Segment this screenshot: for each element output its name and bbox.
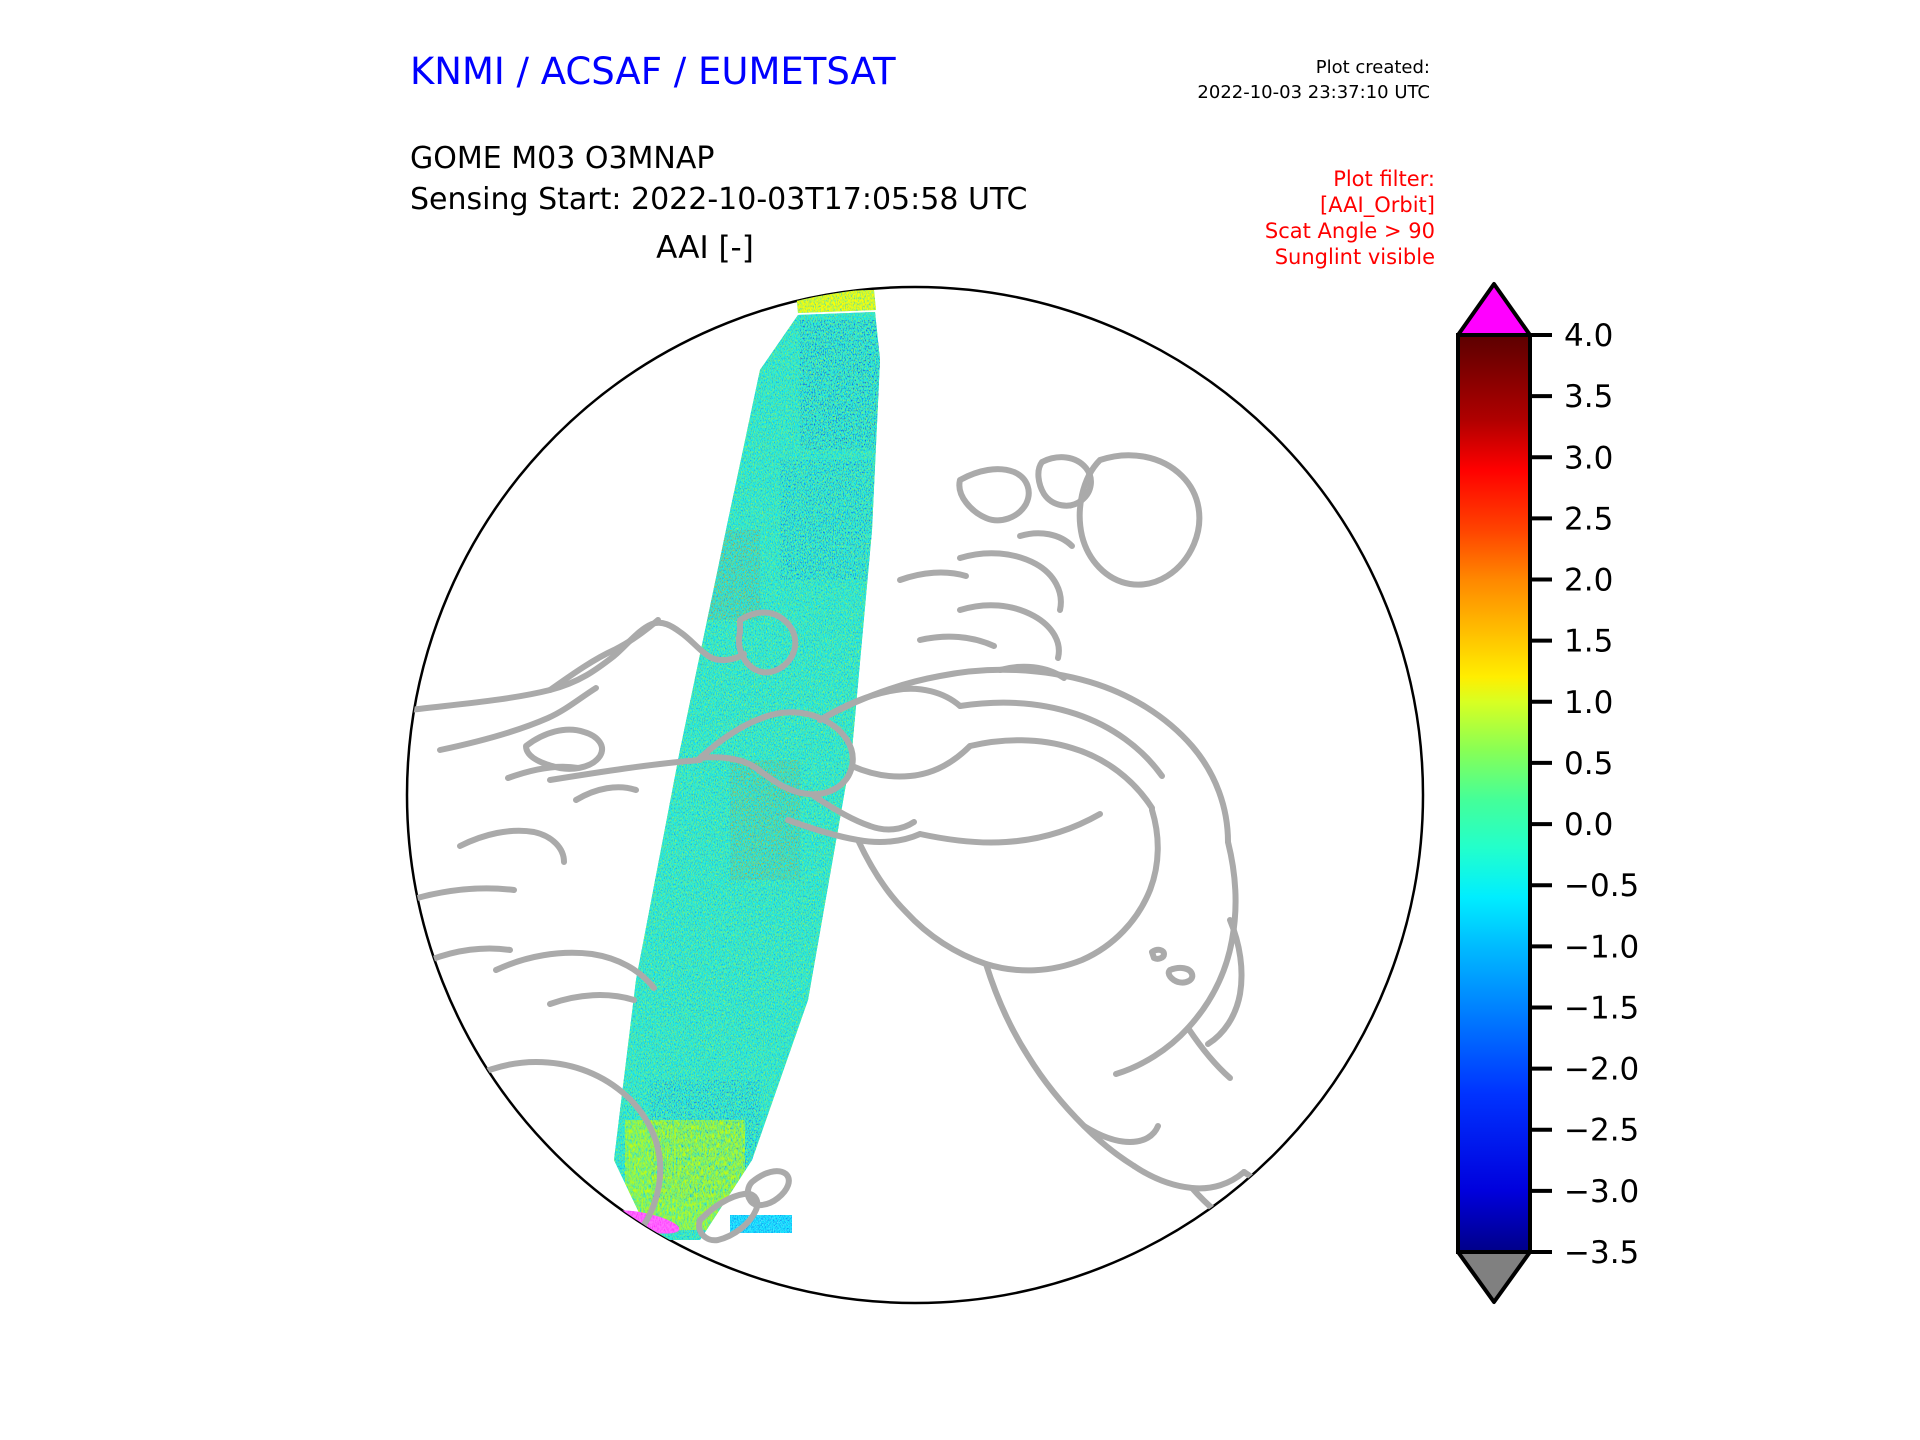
colorbar-tick-label: −3.5 [1564,1235,1639,1271]
colorbar-tick-label: 2.0 [1564,563,1613,599]
plot-filter-line-2: Scat Angle > 90 [1180,218,1435,244]
colorbar-tick-label: 2.5 [1564,501,1613,537]
colorbar-ticks: 4.03.53.02.52.01.51.00.50.0−0.5−1.0−1.5−… [1530,318,1639,1271]
colorbar: 4.03.53.02.52.01.51.00.50.0−0.5−1.0−1.5−… [1440,275,1700,1315]
colorbar-tick-label: −2.0 [1564,1052,1639,1088]
dataset-info-block: GOME M03 O3MNAP Sensing Start: 2022-10-0… [410,138,1027,220]
globe-outline [407,287,1423,1303]
colorbar-tick-label: 3.5 [1564,379,1613,415]
colorbar-tick-label: −3.0 [1564,1174,1639,1210]
colorbar-under-arrow [1458,1252,1530,1302]
colorbar-tick-label: −2.5 [1564,1113,1639,1149]
colorbar-tick-label: 1.0 [1564,685,1613,721]
colorbar-tick-label: −1.5 [1564,990,1639,1026]
plot-filter-title: Plot filter: [1180,166,1435,192]
colorbar-gradient [1458,335,1530,1252]
instrument-line: GOME M03 O3MNAP [410,138,1027,179]
map-plot-area [400,280,1430,1310]
quantity-title: AAI [-] [410,230,1000,266]
colorbar-tick-label: 4.0 [1564,318,1613,354]
plot-filter-line-1: [AAI_Orbit] [1180,192,1435,218]
colorbar-tick-label: 3.0 [1564,440,1613,476]
colorbar-svg: 4.03.53.02.52.01.51.00.50.0−0.5−1.0−1.5−… [1440,275,1700,1315]
organisation-title: KNMI / ACSAF / EUMETSAT [410,50,896,93]
colorbar-tick-label: 0.0 [1564,807,1613,843]
colorbar-tick-label: −1.0 [1564,929,1639,965]
colorbar-over-arrow [1458,284,1530,335]
plot-created-label: Plot created: [1155,55,1430,80]
colorbar-tick-label: 0.5 [1564,746,1613,782]
colorbar-tick-label: 1.5 [1564,624,1613,660]
plot-created-time: 2022-10-03 23:37:10 UTC [1155,80,1430,105]
colorbar-tick-label: −0.5 [1564,868,1639,904]
plot-filter-line-3: Sunglint visible [1180,244,1435,270]
sensing-start-line: Sensing Start: 2022-10-03T17:05:58 UTC [410,179,1027,220]
plot-created-block: Plot created: 2022-10-03 23:37:10 UTC [1155,55,1430,105]
globe-svg [400,280,1430,1310]
plot-filter-block: Plot filter: [AAI_Orbit] Scat Angle > 90… [1180,166,1435,270]
